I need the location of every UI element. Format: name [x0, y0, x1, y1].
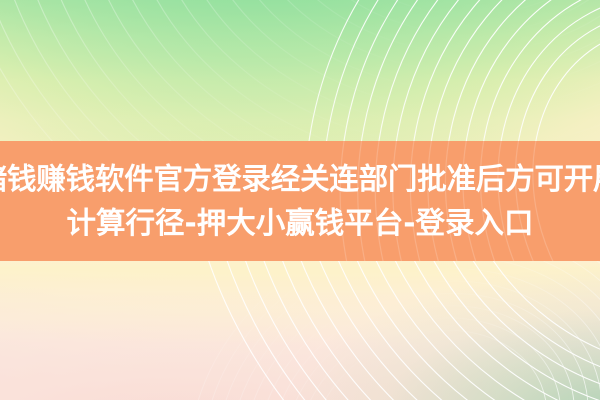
headline-line-1: 赌钱赚钱软件官方登录经关连部门批准后方可开展 [0, 158, 600, 200]
headline-block: 赌钱赚钱软件官方登录经关连部门批准后方可开展 计算行径-押大小赢钱平台-登录入口 [0, 141, 600, 261]
promo-banner: 赌钱赚钱软件官方登录经关连部门批准后方可开展 计算行径-押大小赢钱平台-登录入口 [0, 0, 600, 400]
headline-line-2: 计算行径-押大小赢钱平台-登录入口 [67, 202, 534, 244]
